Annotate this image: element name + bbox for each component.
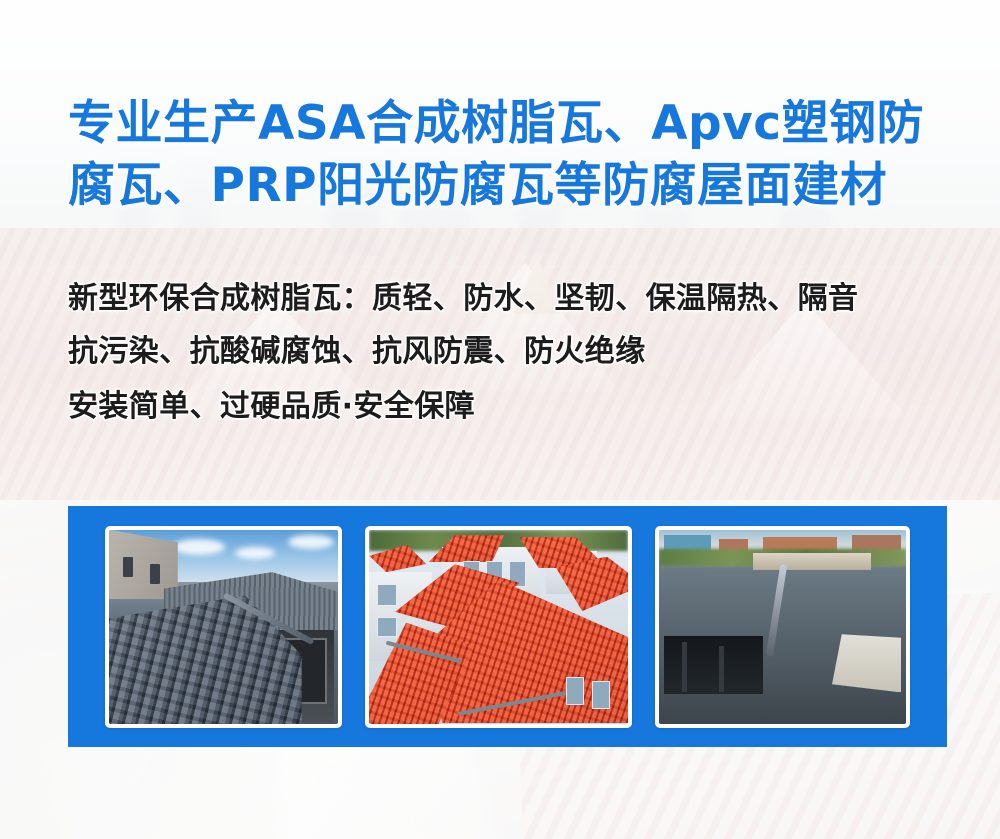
product-photo-gallery xyxy=(68,506,947,747)
photo-frame-red-roof[interactable] xyxy=(365,526,632,728)
window-shape xyxy=(377,584,397,606)
window-shape xyxy=(377,617,397,637)
window-shape xyxy=(123,557,133,577)
window-shape xyxy=(150,564,160,584)
subheadline-line-1: 新型环保合成树脂瓦：质轻、防水、坚韧、保温隔热、隔音 xyxy=(68,272,968,325)
banner-subheadline-group: 新型环保合成树脂瓦：质轻、防水、坚韧、保温隔热、隔音 抗污染、抗酸碱腐蚀、抗风防… xyxy=(68,272,968,433)
photo-frame-black-roof[interactable] xyxy=(655,526,910,728)
product-banner: 专业生产ASA合成树脂瓦、Apvc塑钢防 腐瓦、PRP阳光防腐瓦等防腐屋面建材 … xyxy=(0,0,1000,839)
window-shape xyxy=(592,681,610,709)
subheadline-line-2: 抗污染、抗酸碱腐蚀、抗风防震、防火绝缘 xyxy=(68,325,968,378)
subheadline-line-3: 安装简单、过硬品质·安全保障 xyxy=(68,380,968,433)
photo-frame-grey-roof[interactable] xyxy=(105,526,342,728)
cloud-shape xyxy=(235,547,275,559)
black-resin-tile-roof-image xyxy=(659,530,906,724)
red-resin-tile-roof-image xyxy=(369,530,628,724)
grey-resin-tile-roof-image xyxy=(109,530,338,724)
banner-headline: 专业生产ASA合成树脂瓦、Apvc塑钢防 腐瓦、PRP阳光防腐瓦等防腐屋面建材 xyxy=(68,93,948,217)
concrete-pad xyxy=(832,634,901,692)
window-shape xyxy=(566,677,584,705)
